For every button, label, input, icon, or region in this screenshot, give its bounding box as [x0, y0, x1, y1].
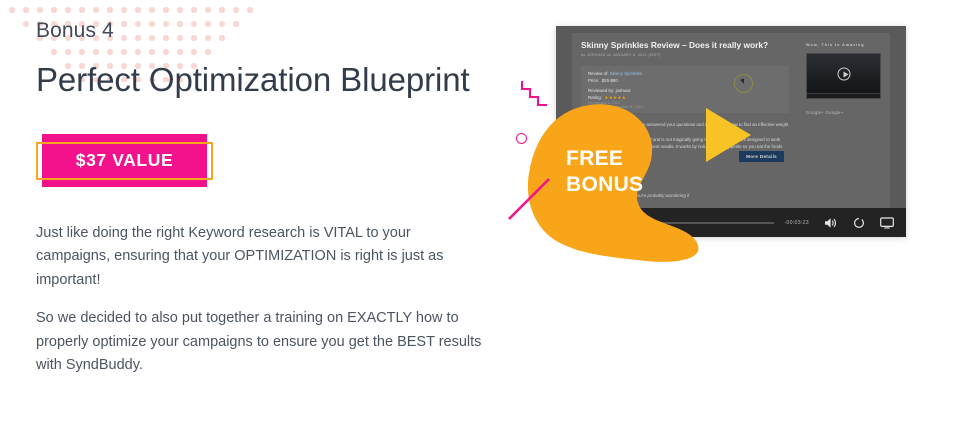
- article-byline: by JOSHUAZ on JANUARY 6, 2014 (EDIT): [581, 53, 789, 57]
- rating-label: Rating:: [588, 95, 602, 100]
- body-paragraph: So we decided to also put together a tra…: [36, 307, 486, 377]
- rating-line: Rating: ★★★★★: [588, 95, 782, 102]
- google-plus-text[interactable]: Google+ Google+: [806, 110, 882, 115]
- reviewed-by-line: Reviewed by: joshuaz: [588, 88, 782, 95]
- price-value: $20-$80: [602, 78, 618, 83]
- sidebar-video-thumbnail[interactable]: [806, 53, 881, 99]
- body-paragraph: Just like doing the right Keyword resear…: [36, 222, 486, 292]
- value-badge-label: $37 VALUE: [42, 134, 207, 187]
- time-remaining-label: -00:03:23: [784, 220, 809, 226]
- review-of-line: Review of: Skinny Sprinkles: [588, 71, 782, 78]
- body-copy: Just like doing the right Keyword resear…: [36, 222, 486, 378]
- page-title: Perfect Optimization Blueprint: [36, 59, 496, 102]
- circle-outline-decoration-icon: [516, 133, 527, 144]
- review-of-label: Review of:: [588, 71, 609, 76]
- diagonal-line-decoration-icon: [508, 178, 550, 220]
- play-circle-icon[interactable]: [837, 68, 850, 81]
- review-of-value[interactable]: Skinny Sprinkles: [610, 71, 642, 76]
- reviewed-by-value: joshuaz: [616, 88, 631, 93]
- price-label: Price:: [588, 78, 599, 83]
- sidebar-heading: Wow, This Is Amazing: [806, 42, 882, 47]
- zigzag-decoration-icon: [521, 80, 548, 106]
- sidebar-video-controlbar: [807, 93, 880, 98]
- free-bonus-blob: [528, 103, 706, 263]
- play-triangle-icon[interactable]: [706, 108, 751, 162]
- bonus-left-column: Bonus 4 Perfect Optimization Blueprint $…: [36, 18, 496, 378]
- settings-gear-icon[interactable]: [851, 215, 866, 230]
- volume-icon[interactable]: [823, 215, 838, 230]
- article-sidebar: Wow, This Is Amazing Google+ Google+: [798, 33, 890, 208]
- reviewed-by-label: Reviewed by:: [588, 88, 614, 93]
- rating-stars-icon: ★★★★★: [604, 95, 626, 100]
- tv-screen-icon[interactable]: [879, 215, 894, 230]
- bonus-eyebrow-label: Bonus 4: [36, 18, 496, 43]
- value-badge: $37 VALUE: [36, 134, 236, 190]
- article-title: Skinny Sprinkles Review – Does it really…: [581, 40, 789, 50]
